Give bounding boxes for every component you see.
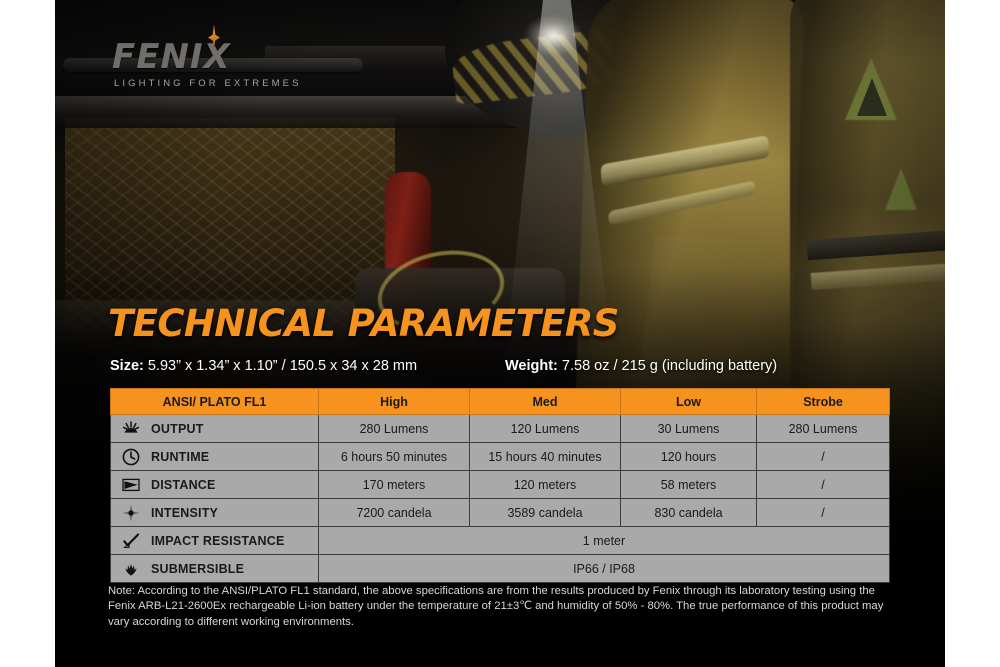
row-label: RUNTIME (151, 450, 209, 464)
content-overlay: TECHNICAL PARAMETERS Size: 5.93” x 1.34”… (0, 0, 1000, 667)
specifications-table: ANSI/ PLATO FL1 High Med Low Strobe (110, 388, 890, 583)
row-header-distance: DISTANCE (111, 471, 319, 499)
cell-output-med: 120 Lumens (470, 415, 621, 443)
table-header-row: ANSI/ PLATO FL1 High Med Low Strobe (111, 389, 890, 415)
footnote: Note: According to the ANSI/PLATO FL1 st… (108, 584, 894, 630)
row-header-submersible: SUBMERSIBLE (111, 555, 319, 583)
table-row: SUBMERSIBLE IP66 / IP68 (111, 555, 890, 583)
cell-impact-resistance-value: 1 meter (319, 527, 890, 555)
table-row: INTENSITY 7200 candela 3589 candela 830 … (111, 499, 890, 527)
column-header-high: High (319, 389, 470, 415)
row-header-intensity: INTENSITY (111, 499, 319, 527)
intensity-star-icon (121, 503, 141, 523)
cell-runtime-high: 6 hours 50 minutes (319, 443, 470, 471)
weight-value: 7.58 oz / 215 g (including battery) (562, 358, 777, 374)
sunburst-icon (121, 419, 141, 439)
size-label: Size: (110, 358, 144, 374)
row-header-runtime: RUNTIME (111, 443, 319, 471)
impact-hammer-icon (121, 531, 141, 551)
cell-runtime-strobe: / (757, 443, 890, 471)
row-header-output: OUTPUT (111, 415, 319, 443)
cell-intensity-low: 830 candela (621, 499, 757, 527)
row-label: DISTANCE (151, 478, 216, 492)
table-row: OUTPUT 280 Lumens 120 Lumens 30 Lumens 2… (111, 415, 890, 443)
cell-distance-low: 58 meters (621, 471, 757, 499)
row-label: IMPACT RESISTANCE (151, 534, 285, 548)
table-row: RUNTIME 6 hours 50 minutes 15 hours 40 m… (111, 443, 890, 471)
cell-output-low: 30 Lumens (621, 415, 757, 443)
row-label: OUTPUT (151, 422, 204, 436)
size-value: 5.93” x 1.34” x 1.10” / 150.5 x 34 x 28 … (148, 358, 417, 374)
weight-spec: Weight: 7.58 oz / 215 g (including batte… (505, 358, 777, 374)
cell-submersible-value: IP66 / IP68 (319, 555, 890, 583)
water-splash-icon (121, 559, 141, 579)
table-row: DISTANCE 170 meters 120 meters 58 meters… (111, 471, 890, 499)
row-label: SUBMERSIBLE (151, 562, 244, 576)
column-header-standard: ANSI/ PLATO FL1 (111, 389, 319, 415)
cell-distance-high: 170 meters (319, 471, 470, 499)
table-row: IMPACT RESISTANCE 1 meter (111, 527, 890, 555)
cell-distance-strobe: / (757, 471, 890, 499)
weight-label: Weight: (505, 358, 558, 374)
clock-icon (121, 447, 141, 467)
cell-intensity-med: 3589 candela (470, 499, 621, 527)
cell-distance-med: 120 meters (470, 471, 621, 499)
cell-intensity-strobe: / (757, 499, 890, 527)
size-spec: Size: 5.93” x 1.34” x 1.10” / 150.5 x 34… (110, 358, 417, 374)
cell-runtime-low: 120 hours (621, 443, 757, 471)
cell-output-strobe: 280 Lumens (757, 415, 890, 443)
beam-distance-icon (121, 475, 141, 495)
column-header-low: Low (621, 389, 757, 415)
column-header-med: Med (470, 389, 621, 415)
cell-runtime-med: 15 hours 40 minutes (470, 443, 621, 471)
cell-intensity-high: 7200 candela (319, 499, 470, 527)
page-title: TECHNICAL PARAMETERS (108, 302, 619, 345)
cell-output-high: 280 Lumens (319, 415, 470, 443)
row-label: INTENSITY (151, 506, 218, 520)
page-root: FENIX LIGHTING FOR EXTREMES TECHNICAL PA… (0, 0, 1000, 667)
column-header-strobe: Strobe (757, 389, 890, 415)
row-header-impact-resistance: IMPACT RESISTANCE (111, 527, 319, 555)
